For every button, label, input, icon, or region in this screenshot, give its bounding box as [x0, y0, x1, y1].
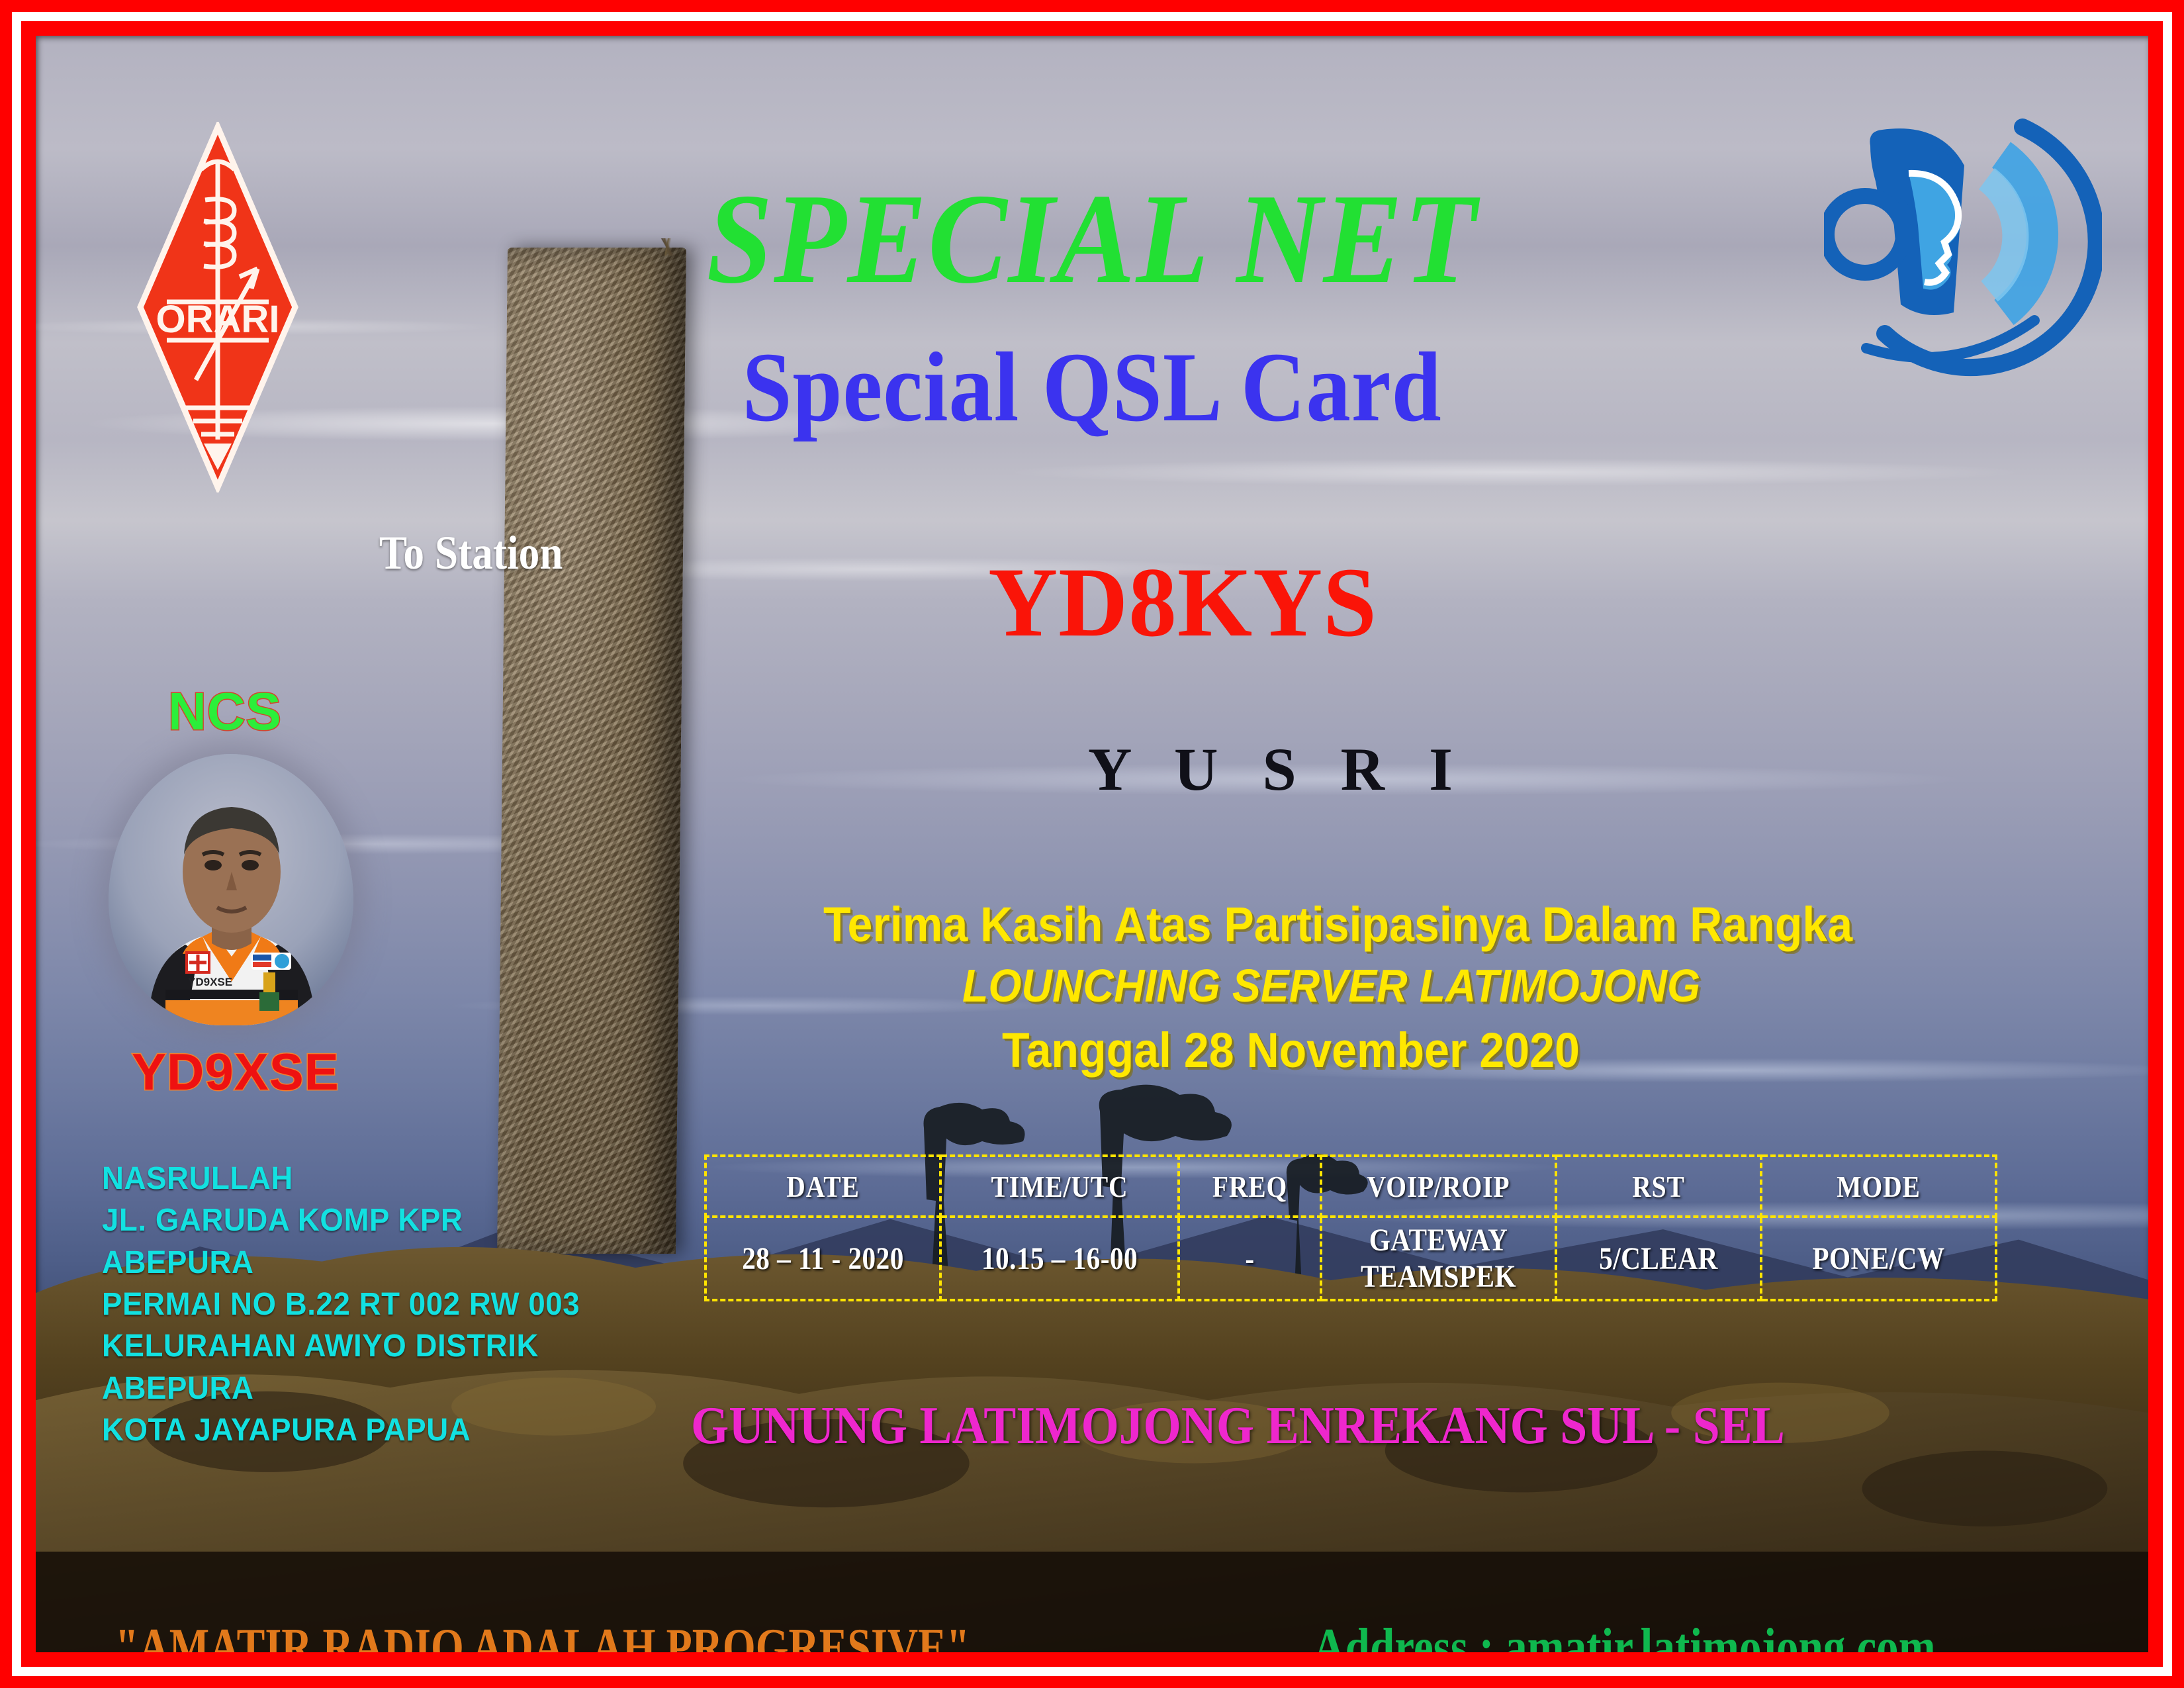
table-cell-voip: GATEWAY TEAMSPEK: [1338, 1217, 1539, 1300]
ncs-label: NCS: [168, 681, 282, 742]
table-header-row: DATE TIME/UTC FREQ VOIP/ROIP RST MODE: [705, 1156, 1996, 1217]
table-row: 28 – 11 - 2020 10.15 – 16-00 - GATEWAY T…: [705, 1217, 1996, 1300]
thanks-line-2: LOUNCHING SERVER LATIMOJONG: [962, 959, 1700, 1012]
page-subtitle-special-qsl-card: Special QSL Card: [142, 330, 2043, 444]
table-cell-mode: PONE/CW: [1778, 1217, 1979, 1300]
table-cell-freq: -: [1189, 1217, 1311, 1300]
address-block: NASRULLAH JL. GARUDA KOMP KPR ABEPURA PE…: [102, 1158, 580, 1452]
address-line: ABEPURA: [102, 1242, 580, 1284]
thanks-line-3: Tanggal 28 November 2020: [1002, 1022, 1580, 1078]
qso-log-table: DATE TIME/UTC FREQ VOIP/ROIP RST MODE 28…: [704, 1154, 1997, 1301]
address-line: KOTA JAYAPURA PAPUA: [102, 1409, 580, 1451]
address-line: JL. GARUDA KOMP KPR: [102, 1199, 580, 1241]
table-header-date: DATE: [722, 1156, 924, 1217]
address-line: PERMAI NO B.22 RT 002 RW 003: [102, 1284, 580, 1325]
table-cell-date: 28 – 11 - 2020: [722, 1217, 924, 1300]
address-line: ABEPURA: [102, 1368, 580, 1409]
operator-name: Y U S R I: [1088, 734, 1467, 804]
station-callsign: YD8KYS: [988, 545, 1377, 659]
to-station-label: To Station: [379, 526, 563, 581]
footer-slogan: "AMATIR RADIO ADALAH PROGRESIVE": [115, 1618, 970, 1652]
ncs-callsign: YD9XSE: [132, 1042, 340, 1102]
page-title-special-net: SPECIAL NET: [120, 165, 2064, 313]
table-header-rst: RST: [1570, 1156, 1747, 1217]
event-location: GUNUNG LATIMOJONG ENREKANG SUL - SEL: [691, 1396, 1785, 1456]
background-photo: ORARI SPECIAL NET Special QS: [36, 36, 2148, 1652]
footer-web-address: Address : amatir.latimojong.com: [1313, 1618, 1936, 1652]
qsl-card: ORARI SPECIAL NET Special QS: [0, 0, 2184, 1688]
thanks-line-1: Terima Kasih Atas Partisipasinya Dalam R…: [823, 896, 1852, 953]
uniform-callsign-text: YD9XSE: [188, 976, 232, 988]
address-line: NASRULLAH: [102, 1158, 580, 1199]
address-line: KELURAHAN AWIYO DISTRIK: [102, 1325, 580, 1367]
table-header-freq: FREQ: [1189, 1156, 1311, 1217]
card-inner-red-frame: ORARI SPECIAL NET Special QS: [21, 21, 2163, 1667]
table-cell-time: 10.15 – 16-00: [957, 1217, 1162, 1300]
table-header-voip: VOIP/ROIP: [1338, 1156, 1539, 1217]
table-header-mode: MODE: [1778, 1156, 1979, 1217]
table-cell-rst: 5/CLEAR: [1570, 1217, 1747, 1300]
table-header-time: TIME/UTC: [957, 1156, 1162, 1217]
card-white-frame: ORARI SPECIAL NET Special QS: [12, 12, 2172, 1676]
ncs-operator-photo: YD9XSE: [109, 754, 353, 1025]
